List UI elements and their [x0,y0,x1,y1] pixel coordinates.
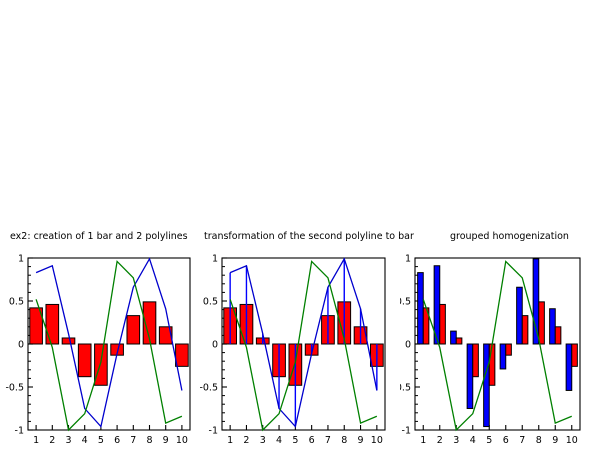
bar-red-9 [555,327,561,344]
bar-red-3 [456,338,462,344]
bar-red-7 [522,316,528,344]
svg-text:8: 8 [146,435,152,446]
figure-canvas: ex2: creation of 1 bar and 2 polylines 1… [0,0,610,460]
svg-text:8: 8 [536,435,542,446]
bar-red-4 [473,344,479,377]
bar-blue-3 [451,331,457,344]
svg-text:7: 7 [130,435,136,446]
svg-text:2: 2 [243,435,249,446]
svg-text:2: 2 [437,435,443,446]
plot-area-3: 10.50-0.5-112345678910 [400,0,610,460]
svg-text:-0.5: -0.5 [200,383,218,394]
svg-text:0: 0 [212,340,218,351]
svg-text:6: 6 [309,435,315,446]
svg-text:0.5: 0.5 [203,297,218,308]
svg-text:9: 9 [552,435,558,446]
bar-blue-7 [517,287,523,344]
svg-text:1: 1 [212,254,218,265]
svg-text:1: 1 [33,435,39,446]
svg-text:7: 7 [519,435,525,446]
svg-text:10: 10 [566,435,578,446]
svg-text:10: 10 [176,435,188,446]
bar-red-2 [440,304,446,344]
bar-red-5 [489,344,495,385]
polyline-green [230,261,377,430]
svg-text:7: 7 [325,435,331,446]
svg-text:4: 4 [82,435,88,446]
svg-text:2: 2 [49,435,55,446]
svg-text:1: 1 [405,254,411,265]
svg-text:-1: -1 [402,426,411,437]
svg-text:1: 1 [420,435,426,446]
bar-blue-1 [418,273,424,344]
svg-text:4: 4 [470,435,476,446]
svg-text:9: 9 [358,435,364,446]
bar-red-8 [539,302,545,344]
bar-5 [95,344,108,385]
svg-text:-0.5: -0.5 [5,383,24,394]
svg-text:-1: -1 [15,426,24,437]
svg-text:3: 3 [260,435,266,446]
bar-blue-9 [550,309,556,344]
svg-text:10: 10 [371,435,383,446]
svg-text:5: 5 [292,435,298,446]
plot-area-2: 10.50-0.5-112345678910 [200,0,400,460]
bar-blue-8 [533,259,539,344]
subplot-panel-2: transformation of the second polyline to… [200,0,400,460]
bar-blue-5 [484,344,490,427]
subplot-panel-1: ex2: creation of 1 bar and 2 polylines 1… [0,0,200,460]
plot-area-1: 10.50-0.5-112345678910 [0,0,200,460]
svg-text:0: 0 [405,340,411,351]
bar-blue-4 [467,344,473,409]
bar-10 [176,344,189,366]
svg-text:5: 5 [486,435,492,446]
svg-text:9: 9 [163,435,169,446]
svg-text:-0.5: -0.5 [400,383,411,394]
bar-2 [46,304,59,344]
svg-text:8: 8 [341,435,347,446]
svg-text:-1: -1 [209,426,218,437]
bar-blue-10 [566,344,572,390]
polyline-green [423,261,572,430]
bar-blue-6 [500,344,506,369]
svg-text:0.5: 0.5 [400,297,411,308]
svg-text:1: 1 [18,254,24,265]
bar-7 [127,316,140,344]
bar-red-10 [572,344,578,366]
bar-4 [78,344,91,377]
svg-text:1: 1 [227,435,233,446]
bar-3 [62,338,75,344]
svg-text:0: 0 [18,340,24,351]
svg-text:6: 6 [114,435,120,446]
svg-text:0.5: 0.5 [9,297,24,308]
svg-text:3: 3 [453,435,459,446]
svg-text:5: 5 [98,435,104,446]
svg-text:3: 3 [65,435,71,446]
svg-text:6: 6 [503,435,509,446]
svg-text:4: 4 [276,435,282,446]
subplot-panel-3: grouped homogenization 10.50-0.5-1123456… [400,0,610,460]
bar-red-6 [506,344,512,355]
